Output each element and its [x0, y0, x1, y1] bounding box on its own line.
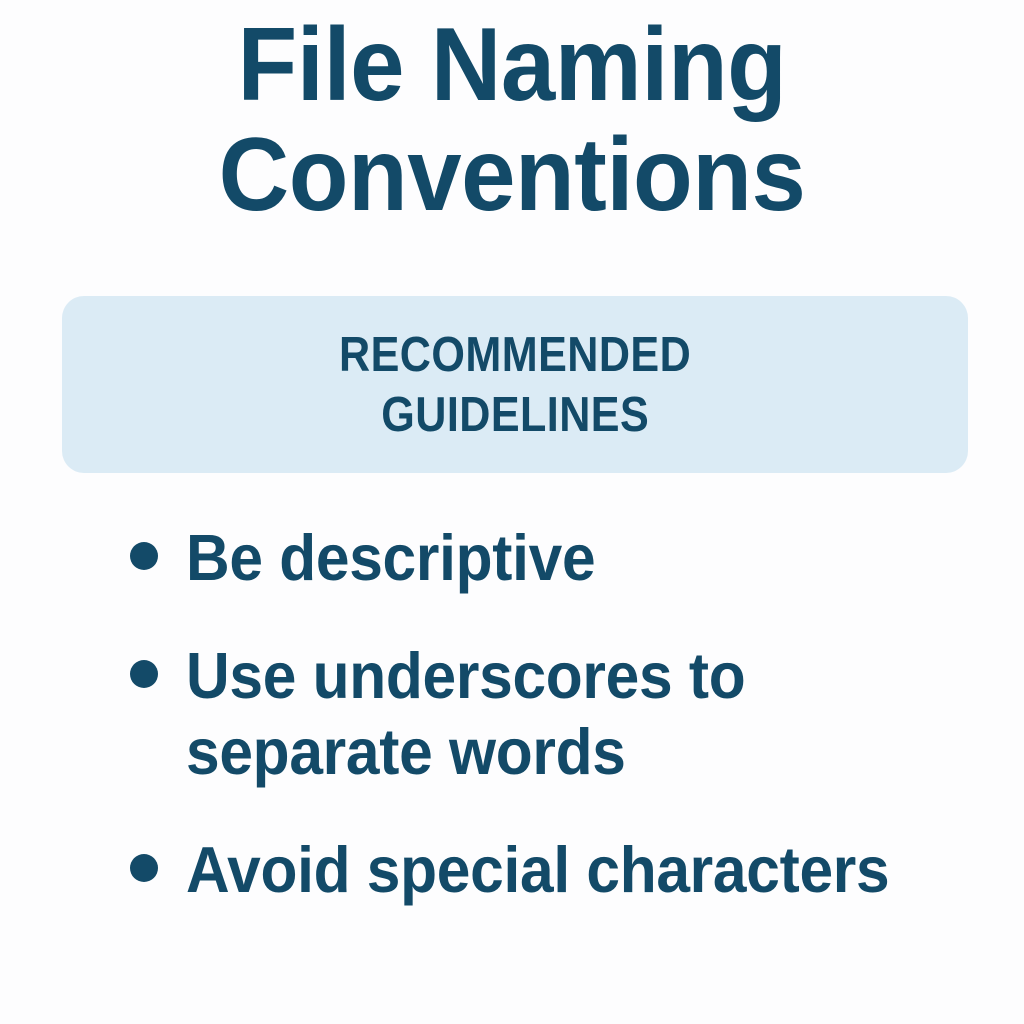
file-naming-conventions-poster: File Naming Conventions RECOMMENDED GUID… [0, 0, 1024, 1024]
page-title-line-1: File Naming [31, 10, 994, 120]
guideline-text: Be descriptive [186, 520, 595, 596]
list-item: Be descriptive [130, 520, 990, 596]
banner-heading-line-1: RECOMMENDED [339, 325, 691, 385]
guideline-text: Use underscores to separate words [186, 638, 921, 790]
page-title: File Naming Conventions [0, 10, 1024, 230]
list-item: Use underscores to separate words [130, 638, 990, 790]
guidelines-list: Be descriptive Use underscores to separa… [130, 520, 990, 908]
page-title-line-2: Conventions [31, 120, 994, 230]
recommended-guidelines-banner: RECOMMENDED GUIDELINES [62, 296, 968, 473]
filled-circle-bullet-icon [130, 660, 158, 688]
filled-circle-bullet-icon [130, 542, 158, 570]
guideline-text: Avoid special characters [186, 832, 889, 908]
banner-heading-line-2: GUIDELINES [381, 385, 649, 445]
filled-circle-bullet-icon [130, 854, 158, 882]
list-item: Avoid special characters [130, 832, 990, 908]
